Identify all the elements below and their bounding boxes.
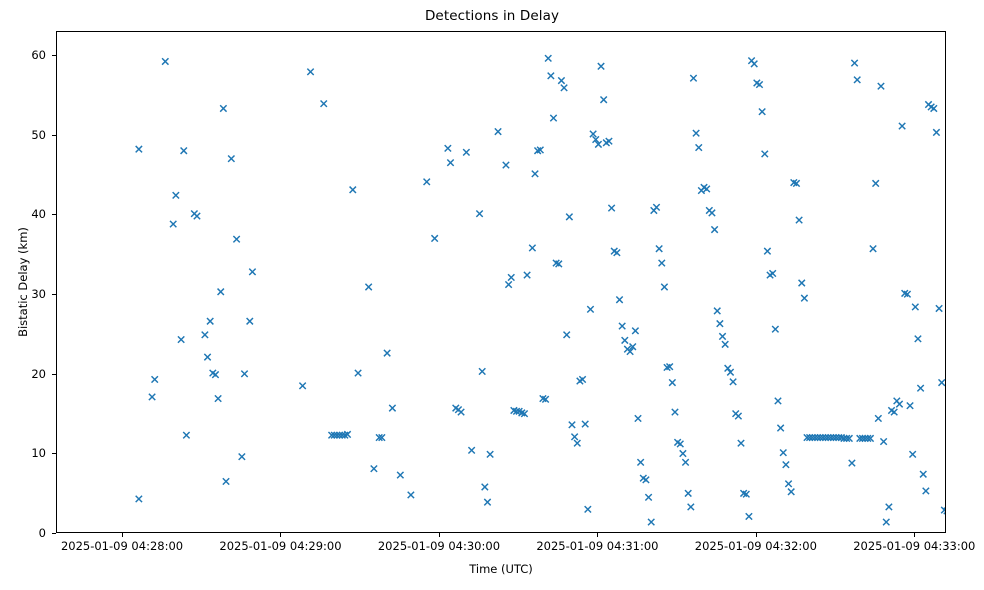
data-point — [600, 97, 606, 103]
data-point — [299, 383, 305, 389]
data-point — [194, 213, 200, 219]
data-point — [479, 368, 485, 374]
data-point — [484, 499, 490, 505]
data-point — [247, 318, 253, 324]
data-point — [355, 370, 361, 376]
data-point — [548, 73, 554, 79]
data-point — [218, 289, 224, 295]
x-tick-mark — [280, 533, 281, 537]
x-tick-label: 2025-01-09 04:28:00 — [61, 539, 183, 553]
data-point — [645, 494, 651, 500]
x-tick-label: 2025-01-09 04:30:00 — [378, 539, 500, 553]
data-point — [915, 336, 921, 342]
data-point — [149, 394, 155, 400]
data-point — [239, 454, 245, 460]
data-point — [371, 465, 377, 471]
data-point — [622, 337, 628, 343]
y-tick-label: 20 — [31, 367, 46, 381]
data-point — [796, 217, 802, 223]
data-point — [350, 187, 356, 193]
data-point — [458, 409, 464, 415]
y-tick-mark — [52, 135, 56, 136]
data-point — [173, 192, 179, 198]
data-point — [389, 405, 395, 411]
data-point — [212, 371, 218, 377]
data-point — [896, 401, 902, 407]
data-point — [561, 85, 567, 91]
y-tick-mark — [52, 214, 56, 215]
data-point — [735, 413, 741, 419]
data-point — [785, 481, 791, 487]
data-point — [920, 471, 926, 477]
data-point — [564, 332, 570, 338]
data-point — [730, 379, 736, 385]
data-point — [690, 75, 696, 81]
data-point — [566, 214, 572, 220]
data-point — [738, 440, 744, 446]
data-point — [181, 148, 187, 154]
data-point — [849, 460, 855, 466]
data-point — [648, 519, 654, 525]
data-point — [204, 354, 210, 360]
data-point — [722, 341, 728, 347]
x-tick-mark — [439, 533, 440, 537]
data-point — [571, 434, 577, 440]
y-tick-label: 50 — [31, 128, 46, 142]
data-point — [220, 105, 226, 111]
data-point — [152, 376, 158, 382]
data-point — [780, 450, 786, 456]
data-point — [899, 123, 905, 129]
data-point — [891, 409, 897, 415]
data-point — [503, 162, 509, 168]
data-point — [608, 205, 614, 211]
scatter-markers-layer — [57, 32, 946, 533]
data-point — [677, 441, 683, 447]
data-point — [912, 304, 918, 310]
data-point — [233, 236, 239, 242]
data-point — [777, 425, 783, 431]
data-point — [207, 318, 213, 324]
data-point — [693, 130, 699, 136]
data-point — [307, 69, 313, 75]
data-point — [936, 305, 942, 311]
data-point — [659, 260, 665, 266]
data-point — [801, 295, 807, 301]
x-tick-label: 2025-01-09 04:29:00 — [219, 539, 341, 553]
data-point — [933, 129, 939, 135]
data-point — [574, 440, 580, 446]
data-point — [397, 472, 403, 478]
data-point — [680, 450, 686, 456]
data-point — [384, 350, 390, 356]
data-point — [717, 320, 723, 326]
data-point — [941, 507, 946, 513]
data-point — [558, 77, 564, 83]
data-point — [769, 270, 775, 276]
data-point — [711, 226, 717, 232]
data-point — [508, 274, 514, 280]
data-point — [799, 280, 805, 286]
y-tick-label: 0 — [39, 526, 46, 540]
data-point — [672, 409, 678, 415]
data-point — [688, 504, 694, 510]
data-point — [870, 246, 876, 252]
data-point — [880, 438, 886, 444]
data-point — [162, 58, 168, 64]
data-point — [424, 179, 430, 185]
data-point — [788, 489, 794, 495]
data-point — [550, 115, 556, 121]
data-point — [545, 55, 551, 61]
data-point — [746, 513, 752, 519]
data-point — [909, 451, 915, 457]
x-tick-mark — [756, 533, 757, 537]
data-point — [487, 451, 493, 457]
data-point — [764, 248, 770, 254]
data-point — [931, 105, 937, 111]
data-point — [854, 77, 860, 83]
y-tick-mark — [52, 533, 56, 534]
data-point — [476, 210, 482, 216]
y-tick-mark — [52, 374, 56, 375]
data-point — [447, 159, 453, 165]
data-point — [656, 246, 662, 252]
data-point — [616, 297, 622, 303]
data-point — [431, 235, 437, 241]
data-point — [524, 272, 530, 278]
data-point — [783, 461, 789, 467]
data-point — [714, 308, 720, 314]
data-point — [872, 180, 878, 186]
data-point — [762, 151, 768, 157]
x-tick-mark — [597, 533, 598, 537]
data-point — [661, 284, 667, 290]
y-tick-mark — [52, 453, 56, 454]
data-point — [772, 326, 778, 332]
data-point — [505, 281, 511, 287]
data-point — [703, 186, 709, 192]
data-point — [923, 488, 929, 494]
data-point — [775, 398, 781, 404]
y-tick-label: 60 — [31, 48, 46, 62]
figure-canvas: Detections in Delay 2025-01-09 04:28:002… — [0, 0, 984, 590]
data-point — [228, 155, 234, 161]
y-tick-label: 40 — [31, 207, 46, 221]
data-point — [883, 519, 889, 525]
data-point — [579, 376, 585, 382]
x-tick-mark — [122, 533, 123, 537]
x-tick-label: 2025-01-09 04:31:00 — [536, 539, 658, 553]
data-point — [223, 478, 229, 484]
data-point — [751, 61, 757, 67]
data-point — [685, 490, 691, 496]
data-point — [619, 323, 625, 329]
data-point — [321, 101, 327, 107]
data-point — [136, 146, 142, 152]
y-tick-label: 30 — [31, 287, 46, 301]
data-point — [635, 415, 641, 421]
y-tick-mark — [52, 294, 56, 295]
data-point — [719, 333, 725, 339]
x-tick-label: 2025-01-09 04:33:00 — [853, 539, 975, 553]
data-point — [759, 108, 765, 114]
y-tick-mark — [52, 55, 56, 56]
data-point — [468, 447, 474, 453]
data-point — [643, 477, 649, 483]
data-point — [907, 403, 913, 409]
y-tick-label: 10 — [31, 446, 46, 460]
data-point — [183, 432, 189, 438]
data-point — [614, 250, 620, 256]
data-point — [606, 138, 612, 144]
data-point — [598, 63, 604, 69]
data-point — [917, 385, 923, 391]
data-point — [482, 484, 488, 490]
data-point — [178, 336, 184, 342]
y-axis-label: Bistatic Delay (km) — [16, 31, 30, 533]
data-point — [241, 371, 247, 377]
data-point — [886, 504, 892, 510]
data-point — [709, 210, 715, 216]
plot-area[interactable] — [56, 31, 946, 533]
data-point — [878, 83, 884, 89]
data-point — [637, 459, 643, 465]
x-tick-mark — [914, 533, 915, 537]
data-point — [669, 379, 675, 385]
data-point — [408, 492, 414, 498]
data-point — [529, 245, 535, 251]
data-point — [495, 128, 501, 134]
data-point — [682, 459, 688, 465]
x-tick-label: 2025-01-09 04:32:00 — [695, 539, 817, 553]
data-point — [569, 422, 575, 428]
data-point — [532, 171, 538, 177]
data-point — [632, 328, 638, 334]
data-point — [582, 421, 588, 427]
data-point — [365, 284, 371, 290]
data-point — [875, 415, 881, 421]
data-point — [202, 332, 208, 338]
data-point — [756, 81, 762, 87]
x-axis-label: Time (UTC) — [56, 562, 946, 576]
data-point — [463, 149, 469, 155]
data-point — [587, 306, 593, 312]
data-point — [136, 496, 142, 502]
data-point — [249, 269, 255, 275]
chart-title: Detections in Delay — [0, 8, 984, 24]
data-point — [939, 379, 945, 385]
data-point — [215, 395, 221, 401]
data-point — [696, 144, 702, 150]
data-point — [170, 221, 176, 227]
data-point — [585, 506, 591, 512]
data-point — [653, 204, 659, 210]
data-point — [445, 145, 451, 151]
data-point — [851, 60, 857, 66]
